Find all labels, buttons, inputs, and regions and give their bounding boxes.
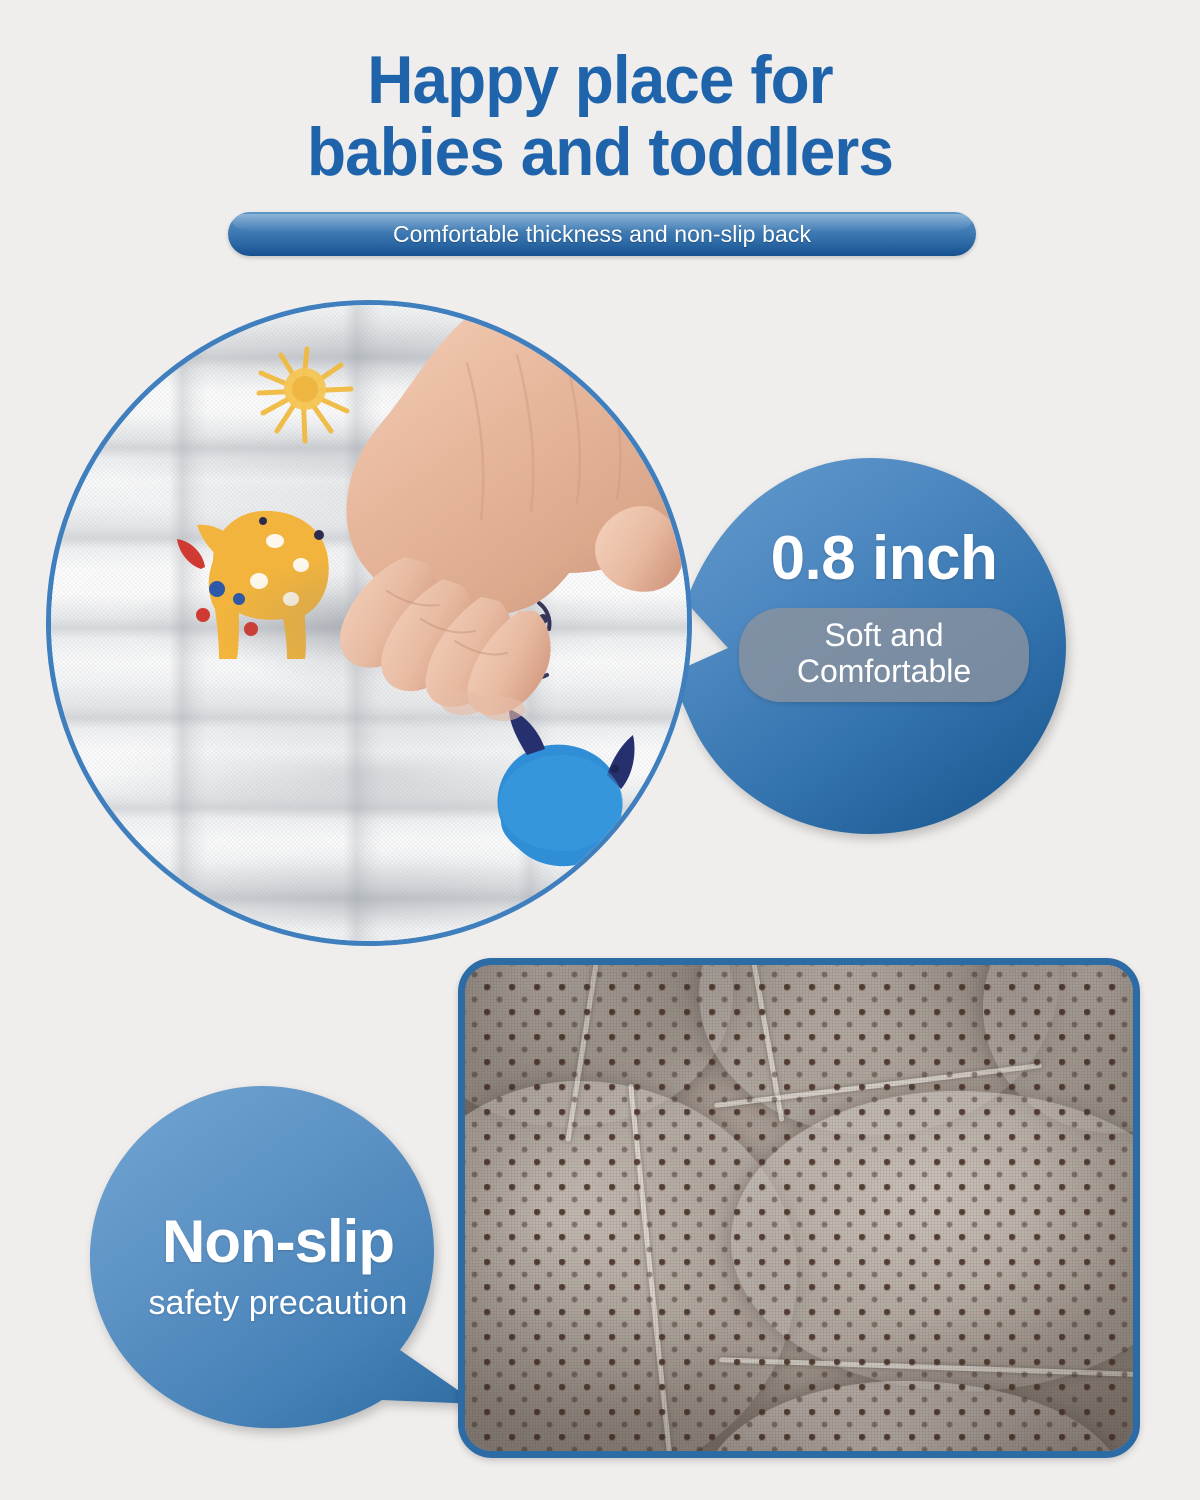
headline-line-1: Happy place for [36,44,1164,116]
thickness-badge-line-2: Comfortable [739,654,1029,690]
nonslip-subtitle: safety precaution [106,1286,450,1322]
photo-bottom-nonslip [458,958,1140,1458]
callout-nonslip-content: Non-slip safety precaution [106,1212,450,1322]
photo-top-closeup [46,300,692,946]
subtitle-text: Comfortable thickness and non-slip back [393,221,811,248]
nonslip-fabric-surface [463,963,1135,1453]
subtitle-banner: Comfortable thickness and non-slip back [228,212,976,256]
nonslip-title: Non-slip [106,1212,450,1272]
hand-pressing-illustration [255,311,692,741]
photo-vignette [463,963,1135,1453]
thickness-badge-line-1: Soft and [739,618,1029,654]
thickness-badge: Soft and Comfortable [739,608,1029,702]
callout-thickness-content: 0.8 inch Soft and Comfortable [712,528,1056,702]
page-header: Happy place for babies and toddlers [0,44,1200,188]
callout-nonslip: Non-slip safety precaution [84,1082,514,1432]
mattress-surface [47,301,691,945]
callout-thickness: 0.8 inch Soft and Comfortable [668,452,1072,840]
page-title: Happy place for babies and toddlers [36,44,1164,188]
headline-line-2: babies and toddlers [36,116,1164,188]
thickness-value: 0.8 inch [712,528,1056,590]
